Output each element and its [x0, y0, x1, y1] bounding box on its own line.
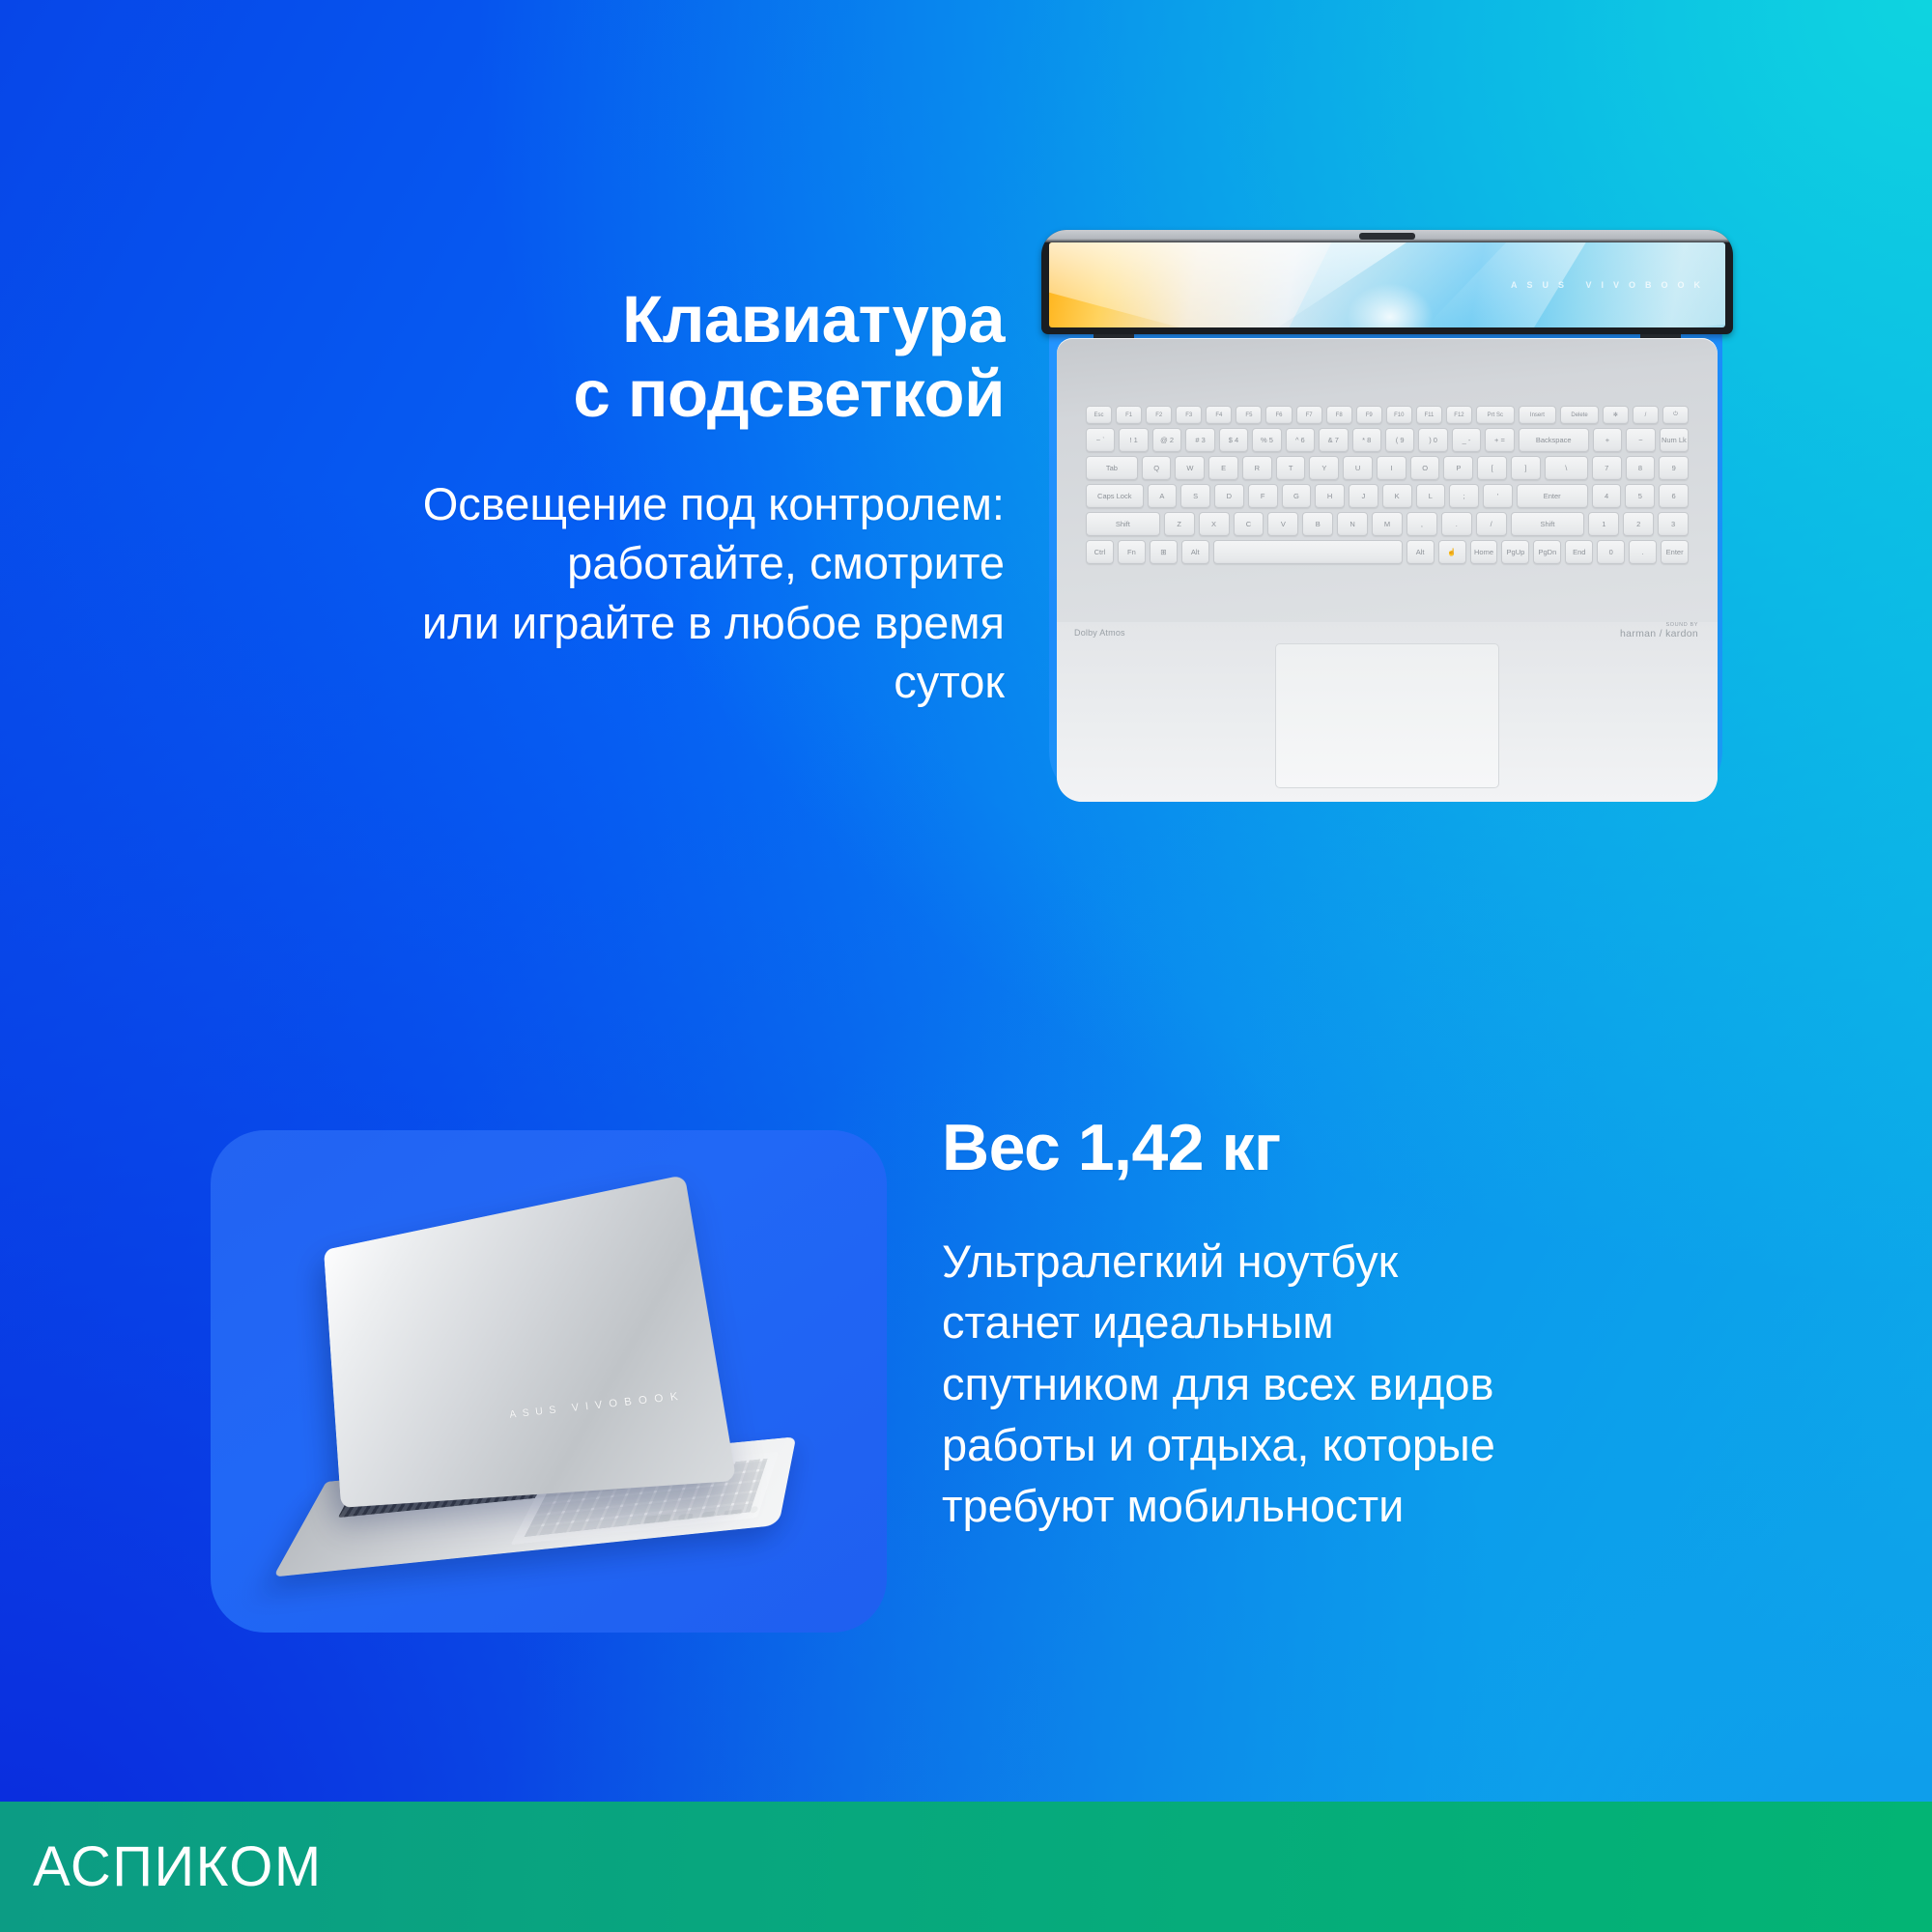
key: & 7 [1319, 428, 1348, 452]
key: Insert [1519, 406, 1557, 424]
key: [ [1477, 456, 1507, 480]
key: O [1410, 456, 1440, 480]
key: F3 [1176, 406, 1202, 424]
key: # 3 [1185, 428, 1214, 452]
harman-kardon-name: harman / kardon [1620, 628, 1698, 639]
asus-vivobook-logo: ASUS VIVOBOOK [509, 1390, 686, 1421]
ctrl-key: Ctrl [1086, 540, 1114, 564]
key: H [1315, 484, 1345, 508]
key: _ - [1452, 428, 1481, 452]
numlock-key: Num Lk [1660, 428, 1689, 452]
numpad-key: 5 [1625, 484, 1655, 508]
key: T [1276, 456, 1306, 480]
numpad-key: 8 [1626, 456, 1656, 480]
key: F1 [1116, 406, 1142, 424]
key: K [1382, 484, 1412, 508]
end-key: End [1565, 540, 1593, 564]
keyboard-row-shift: Shift Z X C V B N M , . / Shift 1 2 3 [1086, 512, 1689, 536]
key: F [1248, 484, 1278, 508]
numpad-key: 6 [1659, 484, 1689, 508]
capslock-key: Caps Lock [1086, 484, 1144, 508]
trackpad [1275, 643, 1499, 788]
key: ) 0 [1418, 428, 1447, 452]
key: L [1416, 484, 1446, 508]
laptop-screen: ASUS VIVOBOOK [1049, 242, 1725, 327]
key: ✻ [1603, 406, 1629, 424]
key: Esc [1086, 406, 1112, 424]
numpad-key: 0 [1597, 540, 1625, 564]
numpad-key: 2 [1623, 512, 1654, 536]
numpad-key: 9 [1659, 456, 1689, 480]
key: F10 [1386, 406, 1412, 424]
key: R [1242, 456, 1272, 480]
key: J [1349, 484, 1378, 508]
key: * 8 [1352, 428, 1381, 452]
keyboard-row-space: Ctrl Fn ⊞ Alt Alt ☝ Home PgUp PgDn End 0… [1086, 540, 1689, 564]
power-key: ⏻ [1662, 406, 1689, 424]
key: B [1302, 512, 1333, 536]
feature-keyboard-image-card: ASUS VIVOBOOK Esc F1 F2 F3 F4 F5 F6 F7 F… [1049, 290, 1722, 802]
key: \ [1545, 456, 1588, 480]
keyboard-row-home: Caps Lock A S D F G H J K L ; ' Enter 4 … [1086, 484, 1689, 508]
tab-key: Tab [1086, 456, 1138, 480]
numpad-key: 4 [1592, 484, 1622, 508]
key: + [1593, 428, 1622, 452]
key: % 5 [1252, 428, 1281, 452]
key: F12 [1446, 406, 1472, 424]
brand-name: АСПИКОМ [33, 1834, 323, 1899]
feature-weight-headline: Вес 1,42 кг [942, 1111, 1676, 1184]
key: ' [1483, 484, 1513, 508]
key: F2 [1146, 406, 1172, 424]
pgdn-key: PgDn [1533, 540, 1561, 564]
key: @ 2 [1152, 428, 1181, 452]
key: E [1208, 456, 1238, 480]
copilot-key-icon: ☝ [1438, 540, 1466, 564]
alt-key: Alt [1406, 540, 1435, 564]
feature-keyboard-body: Освещение под контролем: работайте, смот… [174, 474, 1005, 712]
key: F5 [1236, 406, 1262, 424]
feature-weight-image-card: ASUS VIVOBOOK [211, 1130, 887, 1633]
feature-weight-body: Ультралегкий ноутбук станет идеальным сп… [942, 1231, 1676, 1536]
key: F4 [1206, 406, 1232, 424]
numpad-key: 7 [1592, 456, 1622, 480]
feature-weight-text: Вес 1,42 кг Ультралегкий ноутбук станет … [942, 1111, 1676, 1536]
key: X [1199, 512, 1230, 536]
key: F11 [1416, 406, 1442, 424]
key: D [1214, 484, 1244, 508]
key: Y [1309, 456, 1339, 480]
keyboard-row-numbers: ~ ` ! 1 @ 2 # 3 $ 4 % 5 ^ 6 & 7 * 8 ( 9 … [1086, 428, 1689, 452]
key: S [1180, 484, 1210, 508]
screen-wallpaper-logo: ASUS VIVOBOOK [1511, 280, 1710, 290]
footer-bar: АСПИКОМ [0, 1802, 1932, 1932]
key: N [1337, 512, 1368, 536]
key: ^ 6 [1286, 428, 1315, 452]
numpad-key: 3 [1658, 512, 1689, 536]
alt-key: Alt [1181, 540, 1209, 564]
laptop-lid: ASUS VIVOBOOK [1041, 230, 1733, 334]
webcam-icon [1359, 233, 1415, 240]
key: / [1476, 512, 1507, 536]
key: W [1175, 456, 1205, 480]
feature-keyboard-text: Клавиатура с подсветкой Освещение под ко… [174, 282, 1005, 712]
key: ! 1 [1119, 428, 1148, 452]
key: M [1372, 512, 1403, 536]
fn-key: Fn [1118, 540, 1146, 564]
key: F8 [1326, 406, 1352, 424]
keyboard-row-qwerty: Tab Q W E R T Y U I O P [ ] \ 7 8 9 [1086, 456, 1689, 480]
key: C [1234, 512, 1264, 536]
key: ] [1511, 456, 1541, 480]
key: Z [1164, 512, 1195, 536]
space-key [1213, 540, 1403, 564]
laptop-lid-rear: ASUS VIVOBOOK [324, 1175, 736, 1508]
windows-key-icon: ⊞ [1150, 540, 1178, 564]
key: P [1443, 456, 1473, 480]
key: U [1343, 456, 1373, 480]
screen-glow [1347, 283, 1434, 327]
laptop-rear-view-image: ASUS VIVOBOOK [211, 1130, 887, 1633]
key: A [1148, 484, 1178, 508]
keyboard-row-function: Esc F1 F2 F3 F4 F5 F6 F7 F8 F9 F10 F11 F… [1086, 406, 1689, 424]
numpad-enter-key: Enter [1661, 540, 1689, 564]
key: . [1441, 512, 1472, 536]
dolby-atmos-logo: Dolby Atmos [1074, 628, 1125, 638]
key: Q [1142, 456, 1172, 480]
key: / [1633, 406, 1659, 424]
key: , [1406, 512, 1437, 536]
key: − [1626, 428, 1655, 452]
harman-kardon-logo: SOUND BY harman / kardon [1620, 622, 1698, 639]
key: ~ ` [1086, 428, 1115, 452]
backspace-key: Backspace [1519, 428, 1589, 452]
left-shift-key: Shift [1086, 512, 1160, 536]
keyboard: Esc F1 F2 F3 F4 F5 F6 F7 F8 F9 F10 F11 F… [1086, 406, 1689, 564]
numpad-key: . [1629, 540, 1657, 564]
promo-banner: Клавиатура с подсветкой Освещение под ко… [0, 0, 1932, 1932]
key: F6 [1265, 406, 1292, 424]
laptop-open-topdown-image: ASUS VIVOBOOK Esc F1 F2 F3 F4 F5 F6 F7 F… [1020, 230, 1754, 810]
key: Prt Sc [1476, 406, 1515, 424]
right-shift-key: Shift [1511, 512, 1585, 536]
key: ( 9 [1385, 428, 1414, 452]
pgup-key: PgUp [1501, 540, 1529, 564]
home-key: Home [1470, 540, 1498, 564]
key: V [1267, 512, 1298, 536]
key: Delete [1560, 406, 1599, 424]
enter-key: Enter [1517, 484, 1588, 508]
palm-rest: Dolby Atmos SOUND BY harman / kardon [1057, 622, 1718, 802]
feature-keyboard-headline: Клавиатура с подсветкой [174, 282, 1005, 432]
key: G [1282, 484, 1312, 508]
key: F9 [1356, 406, 1382, 424]
key: + = [1485, 428, 1514, 452]
key: F7 [1296, 406, 1322, 424]
key: $ 4 [1219, 428, 1248, 452]
key: I [1377, 456, 1406, 480]
numpad-key: 1 [1588, 512, 1619, 536]
key: ; [1449, 484, 1479, 508]
